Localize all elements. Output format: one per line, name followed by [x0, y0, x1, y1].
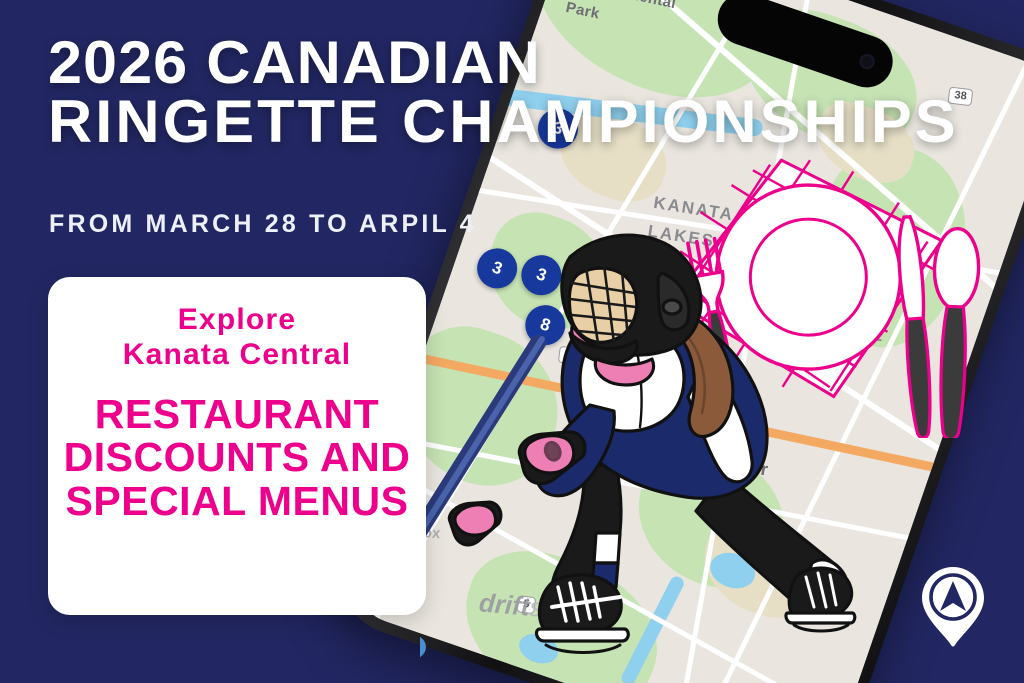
- card-headline-line-2: DISCOUNTS AND: [64, 436, 411, 479]
- card-headline: RESTAURANT DISCOUNTS AND SPECIAL MENUS: [64, 393, 411, 523]
- card-headline-line-3: SPECIAL MENUS: [64, 480, 411, 523]
- card-kicker: Explore Kanata Central: [123, 303, 352, 373]
- headline-line-2: RINGETTE CHAMPIONSHIPS: [48, 93, 959, 152]
- promotional-poster: Environmental Park KANATA LAKES HAZ Pall…: [0, 0, 1024, 683]
- card-kicker-line-2: Kanata Central: [123, 338, 352, 373]
- card-headline-line-1: RESTAURANT: [64, 393, 411, 436]
- promo-card: Explore Kanata Central RESTAURANT DISCOU…: [48, 277, 426, 615]
- card-kicker-line-1: Explore: [123, 303, 352, 338]
- event-dates: FROM MARCH 28 TO ARPIL 4: [49, 210, 477, 239]
- spoon-icon: [929, 228, 980, 438]
- page-title: 2026 CANADIAN RINGETTE CHAMPIONSHIPS: [48, 34, 959, 152]
- ringette-player-illustration: [420, 215, 890, 675]
- driftscape-map-pin-logo: [920, 565, 986, 649]
- ringette-ring: [420, 632, 422, 662]
- headline-line-1: 2026 CANADIAN: [48, 34, 959, 93]
